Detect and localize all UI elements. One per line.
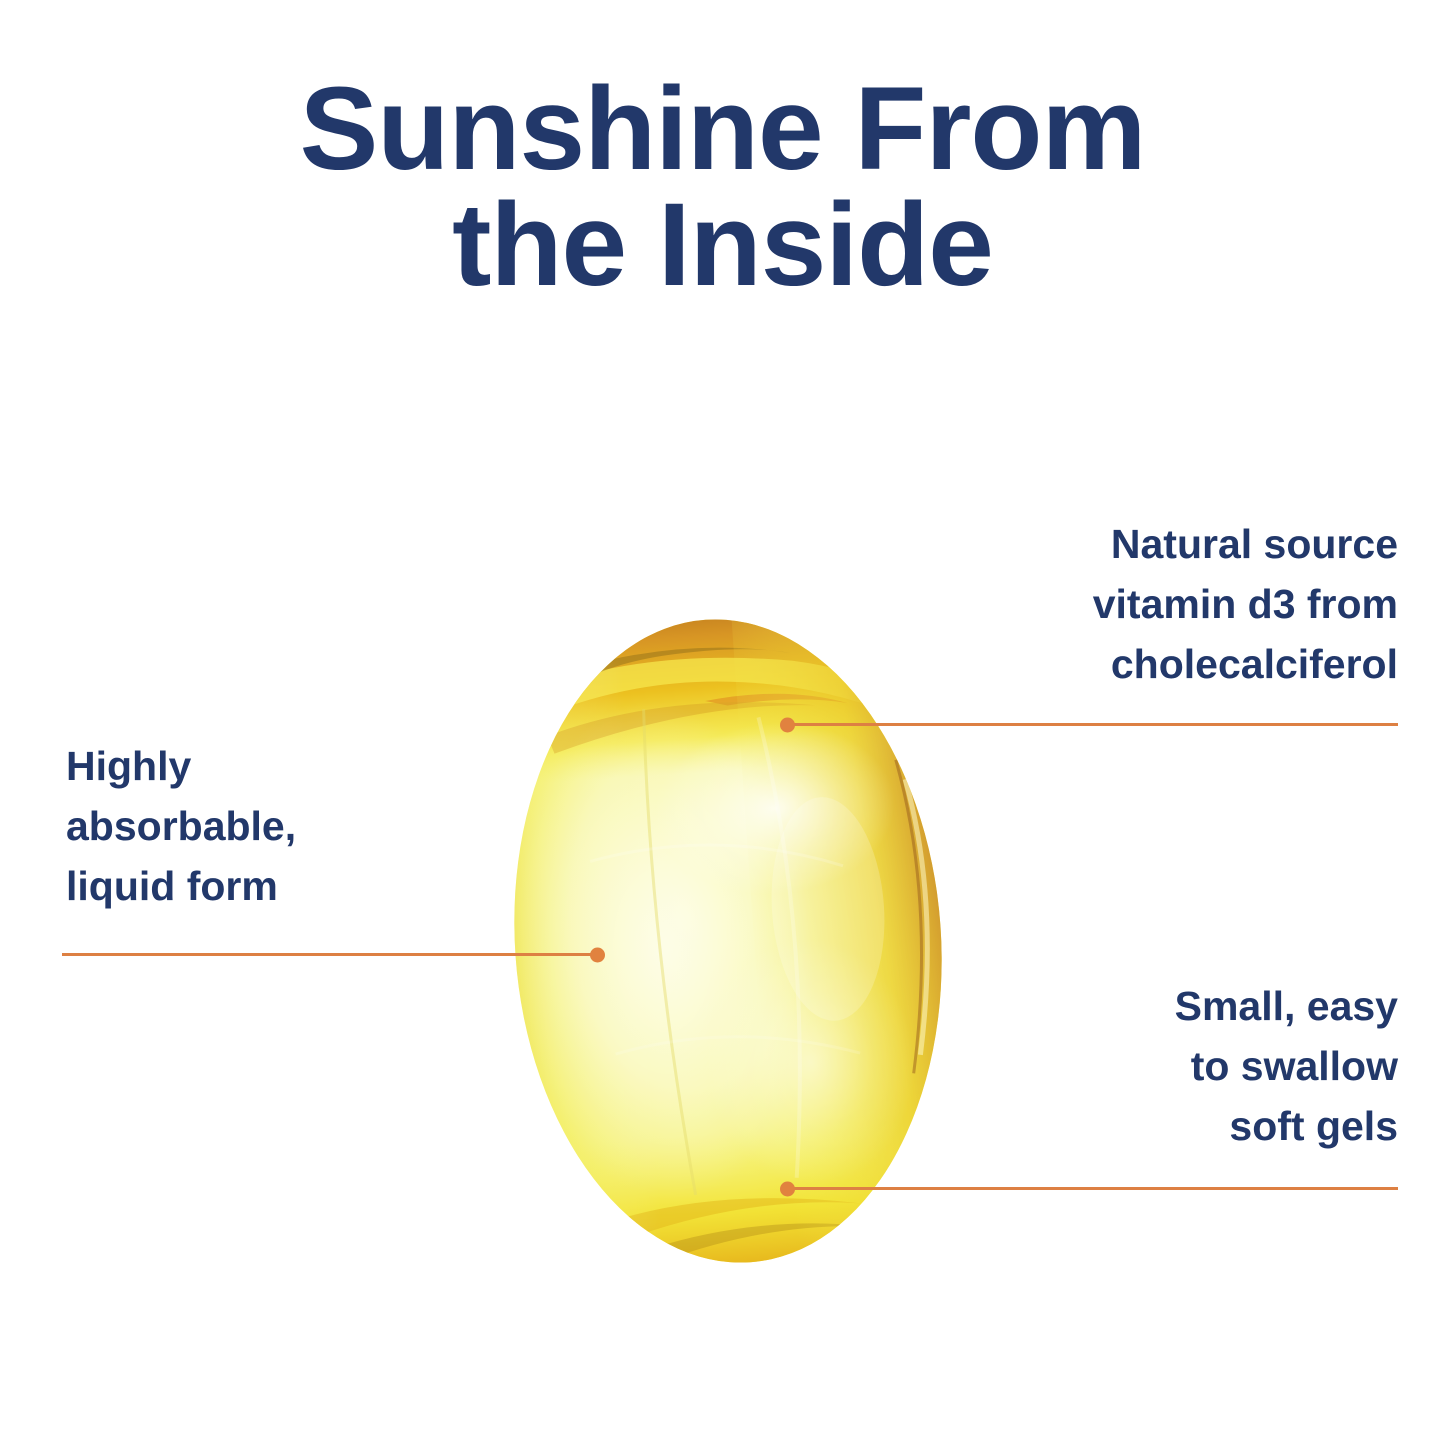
softgel-capsule-image — [512, 616, 944, 1266]
callout-small-easy: Small, easy to swallow soft gels — [968, 976, 1398, 1156]
leader-line-small-easy — [783, 1187, 1398, 1190]
softgel-capsule-shape — [490, 602, 966, 1281]
leader-line-natural-source — [783, 723, 1398, 726]
infographic-canvas: Sunshine From the Inside — [0, 0, 1445, 1445]
softgel-capsule-svg — [490, 602, 966, 1281]
leader-dot-icon — [780, 717, 795, 732]
page-title: Sunshine From the Inside — [0, 72, 1445, 303]
callout-natural-source: Natural source vitamin d3 from cholecalc… — [928, 514, 1398, 694]
leader-dot-icon — [780, 1181, 795, 1196]
leader-line-highly-absorbable — [62, 953, 602, 956]
leader-dot-icon — [590, 947, 605, 962]
callout-highly-absorbable: Highly absorbable, liquid form — [66, 736, 486, 916]
